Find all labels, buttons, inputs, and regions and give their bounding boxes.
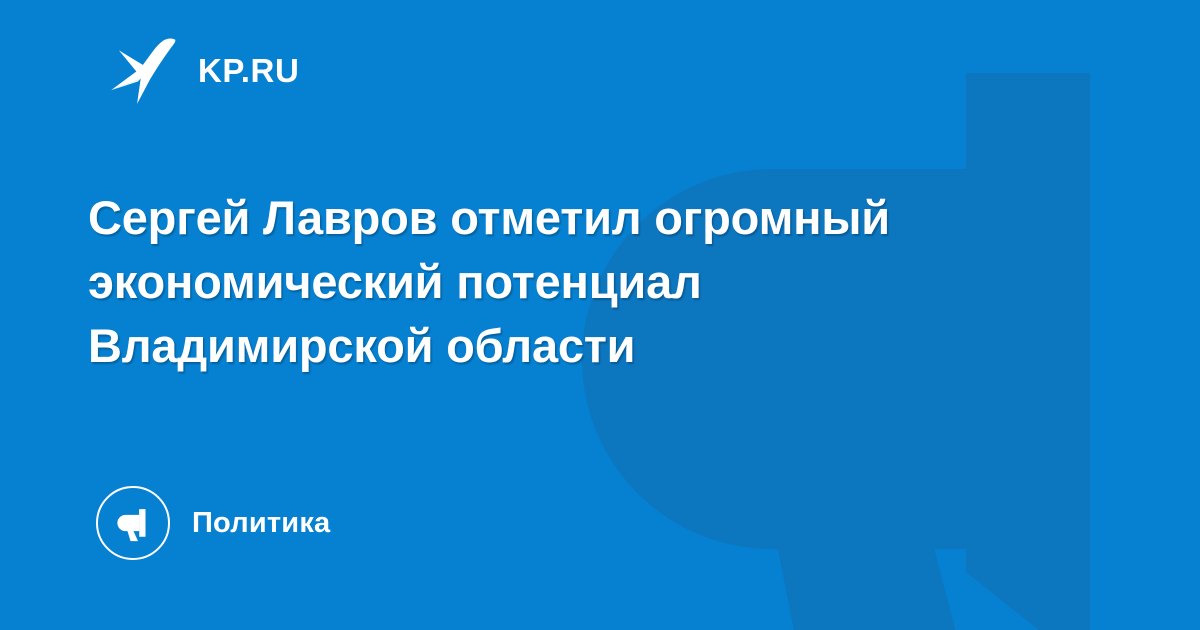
headline-line-1: Сергей Лавров отметил огромный [88,186,1098,250]
category-badge[interactable]: Политика [96,486,330,560]
megaphone-icon [113,503,153,543]
brand-name: KP.RU [198,54,299,87]
headline: Сергей Лавров отметил огромный экономиче… [88,186,1098,378]
headline-line-3: Владимирской области [88,314,1098,378]
site-header: KP.RU [108,34,299,106]
share-card: KP.RU Сергей Лавров отметил огромный эко… [0,0,1200,630]
headline-line-2: экономический потенциал [88,250,1098,314]
category-icon-circle [96,486,170,560]
category-label: Политика [192,509,330,538]
swallow-bird-icon [108,34,182,106]
